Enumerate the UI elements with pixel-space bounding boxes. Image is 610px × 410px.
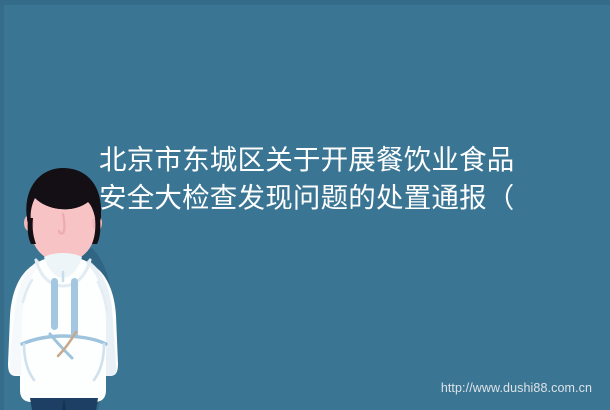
top-edge-band bbox=[0, 0, 610, 5]
page-title: 北京市东城区关于开展餐饮业食品 安全大检查发现问题的处置通报（ bbox=[99, 141, 610, 217]
pants-shape bbox=[30, 398, 98, 410]
left-edge-band bbox=[0, 0, 4, 410]
cover-image-canvas: 北京市东城区关于开展餐饮业食品 安全大检查发现问题的处置通报（ http://w… bbox=[0, 0, 610, 410]
source-url-watermark: http://www.dushi88.com.cn bbox=[441, 380, 592, 396]
page-title-line-1: 北京市东城区关于开展餐饮业食品 bbox=[99, 141, 610, 179]
page-title-line-2: 安全大检查发现问题的处置通报（ bbox=[99, 179, 610, 217]
